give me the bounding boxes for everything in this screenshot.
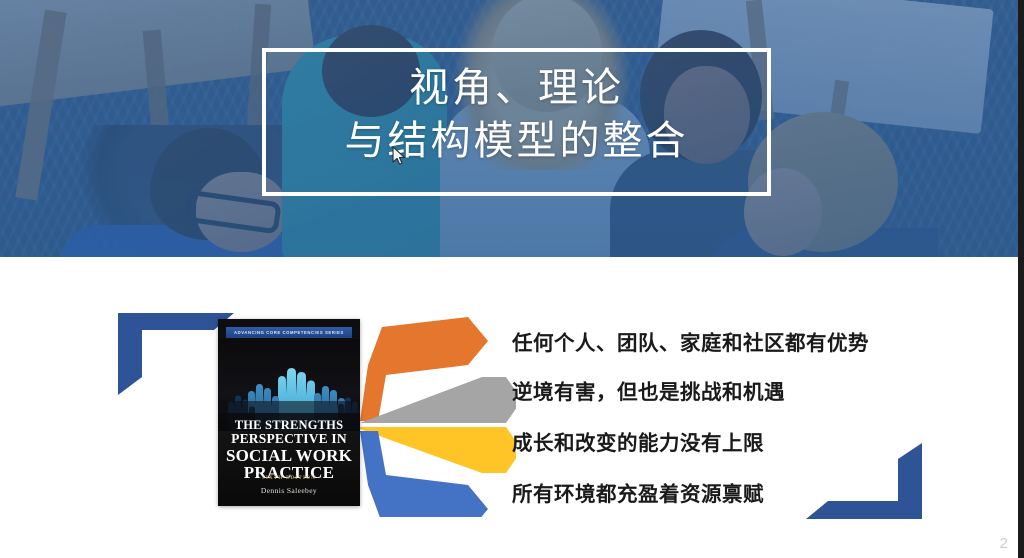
list-item: 任何个人、团队、家庭和社区都有优势 bbox=[512, 326, 869, 356]
window-right-edge bbox=[1018, 0, 1024, 558]
book-edition: SIXTH EDITION bbox=[218, 476, 360, 481]
page-number: 2 bbox=[1000, 535, 1008, 552]
book-title-line-3: SOCIAL WORK bbox=[224, 447, 354, 464]
list-item: 成长和改变的能力没有上限 bbox=[512, 426, 764, 456]
list-item: 所有环境都充盈着资源禀赋 bbox=[512, 477, 764, 507]
bullet-list: 任何个人、团队、家庭和社区都有优势 逆境有害，但也是挑战和机遇 成长和改变的能力… bbox=[512, 305, 982, 517]
slide: 视角、理论 与结构模型的整合 ADVANCING CORE COMPETENCI… bbox=[0, 0, 1024, 558]
list-item: 逆境有害，但也是挑战和机遇 bbox=[512, 375, 785, 405]
page-title-line-2: 与结构模型的整合 bbox=[262, 115, 771, 168]
page-title: 视角、理论 与结构模型的整合 bbox=[262, 62, 771, 168]
book-series-banner: ADVANCING CORE COMPETENCIES SERIES bbox=[226, 327, 352, 338]
book-author: Dennis Saleebey bbox=[218, 486, 360, 495]
book-series-label: ADVANCING CORE COMPETENCIES SERIES bbox=[234, 330, 344, 335]
banner-image: 视角、理论 与结构模型的整合 bbox=[0, 0, 1018, 257]
book-title-line-1: THE STRENGTHS bbox=[224, 419, 354, 432]
book-title: THE STRENGTHS PERSPECTIVE IN SOCIAL WORK… bbox=[224, 419, 354, 481]
mouse-cursor-icon bbox=[392, 146, 406, 166]
book-title-line-2: PERSPECTIVE IN bbox=[224, 432, 354, 446]
chevron-group bbox=[356, 305, 516, 517]
corner-bracket-top-left bbox=[118, 313, 234, 395]
page-title-line-1: 视角、理论 bbox=[409, 66, 624, 110]
book-cover: ADVANCING CORE COMPETENCIES SERIES bbox=[218, 319, 360, 506]
